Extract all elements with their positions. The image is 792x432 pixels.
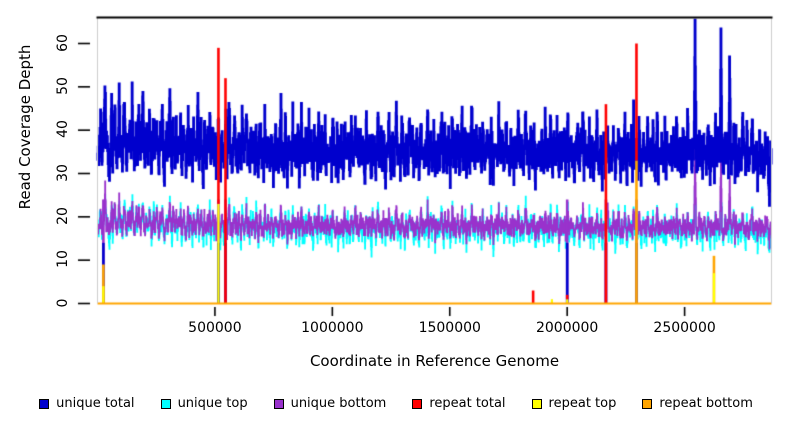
legend-item[interactable]: repeat total	[412, 396, 505, 411]
legend-label: repeat total	[429, 396, 505, 411]
legend-swatch-icon	[39, 399, 49, 409]
legend-swatch-icon	[532, 399, 542, 409]
y-tick-label: 50	[55, 71, 71, 101]
x-axis-title: Coordinate in Reference Genome	[97, 352, 772, 370]
y-tick-label: 10	[55, 244, 71, 274]
legend-swatch-icon	[274, 399, 284, 409]
legend-item[interactable]: repeat bottom	[642, 396, 753, 411]
x-tick-label: 1000000	[301, 320, 363, 336]
y-tick-label: 60	[55, 28, 71, 58]
legend-item[interactable]: repeat top	[532, 396, 617, 411]
legend-item[interactable]: unique total	[39, 396, 134, 411]
x-tick-label: 2500000	[653, 320, 715, 336]
chart-legend: unique totalunique topunique bottomrepea…	[0, 396, 792, 411]
x-tick-label: 1500000	[419, 320, 481, 336]
legend-label: repeat top	[549, 396, 617, 411]
legend-item[interactable]: unique bottom	[274, 396, 387, 411]
legend-swatch-icon	[161, 399, 171, 409]
legend-swatch-icon	[642, 399, 652, 409]
legend-label: unique bottom	[291, 396, 387, 411]
x-tick-label: 2000000	[536, 320, 598, 336]
legend-label: unique top	[178, 396, 248, 411]
x-tick-label: 500000	[188, 320, 241, 336]
y-tick-label: 0	[55, 288, 71, 318]
coverage-plot-figure: Read Coverage Depth Coordinate in Refere…	[0, 0, 792, 432]
legend-swatch-icon	[412, 399, 422, 409]
legend-item[interactable]: unique top	[161, 396, 248, 411]
legend-label: unique total	[56, 396, 134, 411]
legend-label: repeat bottom	[659, 396, 753, 411]
y-tick-label: 30	[55, 158, 71, 188]
y-axis-title: Read Coverage Depth	[14, 0, 36, 292]
y-tick-label: 40	[55, 114, 71, 144]
y-tick-label: 20	[55, 201, 71, 231]
